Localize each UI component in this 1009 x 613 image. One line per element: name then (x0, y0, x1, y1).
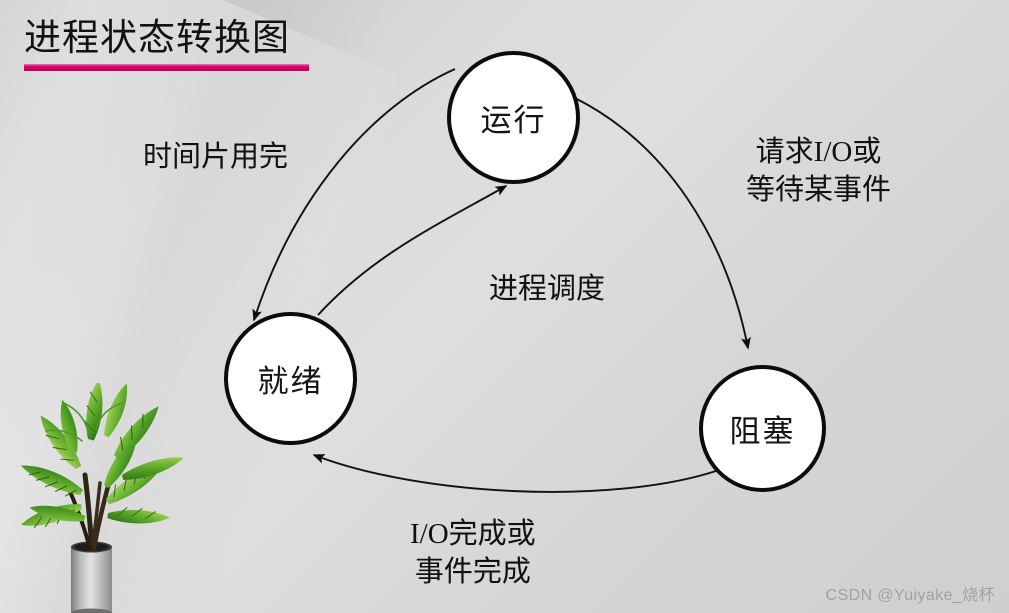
edge-label-request-io-line2: 等待某事件 (746, 171, 891, 209)
title-underline-rule (24, 64, 309, 71)
edge-label-time-slice-expired: 时间片用完 (143, 138, 288, 176)
state-node-ready[interactable]: 就绪 (224, 312, 357, 445)
edge-ready-to-running (318, 186, 506, 315)
state-node-blocked-label: 阻塞 (730, 406, 796, 451)
edge-label-process-scheduling: 进程调度 (489, 270, 605, 308)
state-node-blocked[interactable]: 阻塞 (699, 365, 826, 492)
state-node-ready-label: 就绪 (258, 356, 324, 401)
edge-running-to-ready (254, 69, 455, 320)
edge-label-io-complete-line2: 事件完成 (410, 553, 536, 591)
edge-blocked-to-ready (314, 455, 716, 492)
edge-label-process-scheduling-line1: 进程调度 (489, 270, 605, 308)
slide-canvas: 进程状态转换图 运行 就绪 阻塞 时间片用完 进程调度 请求I/O或 (0, 0, 1009, 613)
edge-label-time-slice-expired-line1: 时间片用完 (143, 138, 288, 176)
state-node-running-label: 运行 (481, 95, 547, 140)
watermark-text: CSDN @Yuiyake_烧杯 (826, 581, 995, 605)
edge-label-io-complete: I/O完成或 事件完成 (410, 515, 536, 591)
edge-running-to-blocked (575, 98, 748, 348)
edge-label-io-complete-line1: I/O完成或 (410, 515, 536, 553)
edge-label-request-io: 请求I/O或 等待某事件 (746, 133, 891, 209)
edge-label-request-io-line1: 请求I/O或 (746, 133, 891, 171)
title-block: 进程状态转换图 (24, 17, 309, 71)
state-node-running[interactable]: 运行 (447, 51, 580, 184)
page-title: 进程状态转换图 (24, 17, 309, 61)
